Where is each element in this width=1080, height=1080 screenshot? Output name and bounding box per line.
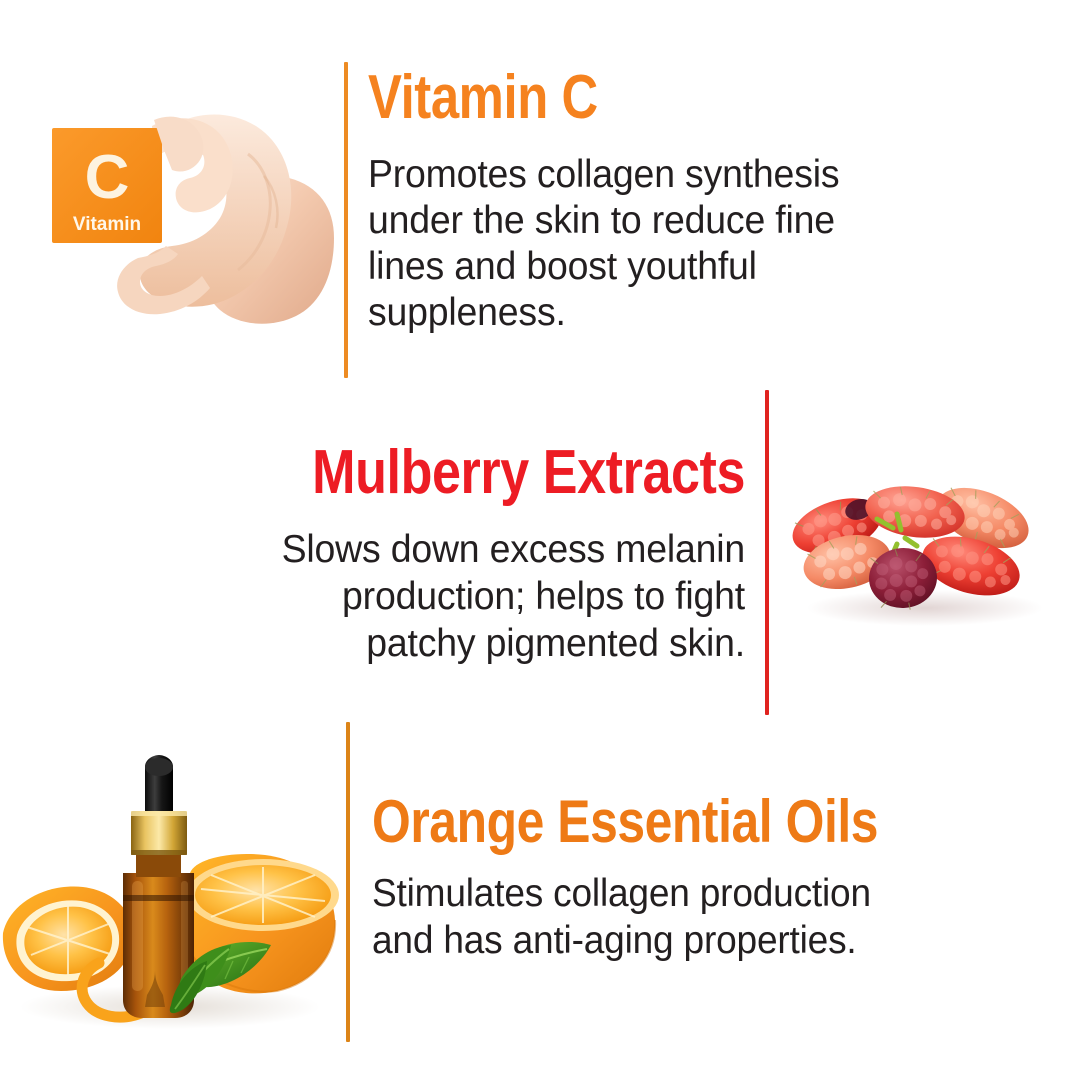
infographic-canvas: C Vitamin [0,0,1080,1080]
mulberry-heading: Mulberry Extracts [241,440,745,505]
section-vitamin-c: Vitamin C Promotes collagen synthesis un… [0,40,1080,385]
vitamin-c-description-line: Promotes collagen synthesis [368,152,954,198]
orange-oils-description-line: and has anti-aging properties. [372,918,990,965]
orange-oils-heading: Orange Essential Oils [372,790,912,853]
vitamin-c-description: Promotes collagen synthesis under the sk… [368,152,954,336]
vitamin-c-heading: Vitamin C [368,65,868,130]
mulberry-description-line: patchy pigmented skin. [169,621,745,668]
mulberry-description: Slows down excess melanin production; he… [169,527,745,667]
section-orange-essential-oils: Orange Essential Oils Stimulates collage… [0,770,1080,1030]
orange-oils-text-block: Orange Essential Oils Stimulates collage… [372,790,1022,965]
vitamin-c-description-line: lines and boost youthful [368,244,954,290]
mulberry-description-line: production; helps to fight [169,574,745,621]
vitamin-c-description-line: under the skin to reduce fine [368,198,954,244]
mulberry-text-block: Mulberry Extracts Slows down excess mela… [145,440,745,667]
mulberry-description-line: Slows down excess melanin [169,527,745,574]
vitamin-c-text-block: Vitamin C Promotes collagen synthesis un… [368,65,978,336]
vitamin-c-description-line: suppleness. [368,290,954,336]
section-mulberry-extracts: Mulberry Extracts Slows down excess mela… [0,420,1080,720]
orange-oils-description-line: Stimulates collagen production [372,871,990,918]
orange-oils-description: Stimulates collagen production and has a… [372,871,990,965]
